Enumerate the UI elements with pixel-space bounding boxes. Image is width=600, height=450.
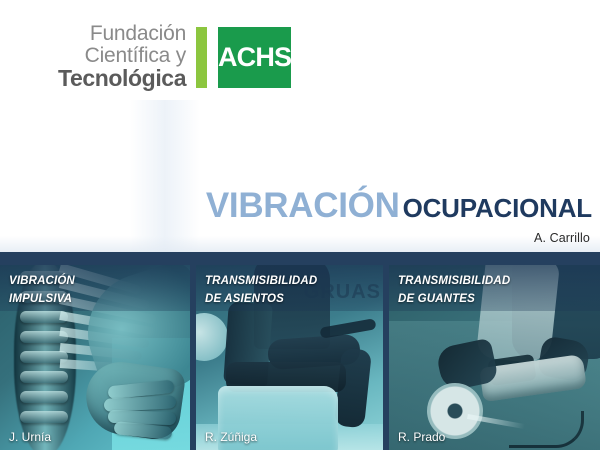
title-main: VIBRACIÓN <box>206 186 400 225</box>
logo-green-bar <box>196 27 207 88</box>
panel-1-credit: J. Urnía <box>9 430 51 444</box>
achs-badge-label: ACHS <box>218 42 291 73</box>
panel-transmisibilidad-de-guantes[interactable]: TRANSMISIBILIDAD DE GUANTES R. Prado <box>389 265 600 450</box>
organization-logo: Fundación Científica y Tecnológica ACHS <box>58 22 291 92</box>
panel-row: VIBRACIÓN IMPULSIVA J. Urnía GRUAS <box>0 265 600 450</box>
panel-2-title: TRANSMISIBILIDAD DE ASIENTOS <box>205 273 317 309</box>
background-wash-lower <box>0 236 600 252</box>
logo-wordmark: Fundación Científica y Tecnológica <box>58 23 196 91</box>
logo-line-2: Científica y <box>58 45 186 67</box>
background-wash <box>130 100 200 252</box>
panel-3-title: TRANSMISIBILIDAD DE GUANTES <box>398 273 510 309</box>
panel-transmisibilidad-de-asientos[interactable]: GRUAS TRANSMISIBILIDAD DE ASIENTOS R. Zú… <box>196 265 383 450</box>
panel-strip: VIBRACIÓN IMPULSIVA J. Urnía GRUAS <box>0 252 600 450</box>
achs-badge: ACHS <box>218 27 291 88</box>
logo-line-1: Fundación <box>58 23 186 45</box>
logo-line-3: Tecnológica <box>58 67 186 91</box>
panel-2-credit: R. Zúñiga <box>205 430 257 444</box>
panel-vibracion-impulsiva[interactable]: VIBRACIÓN IMPULSIVA J. Urnía <box>0 265 190 450</box>
author-name: A. Carrillo <box>534 231 590 245</box>
page-title: VIBRACIÓNOCUPACIONAL <box>206 186 592 226</box>
title-sub: OCUPACIONAL <box>403 193 592 223</box>
slide: Fundación Científica y Tecnológica ACHS … <box>0 0 600 450</box>
panel-3-credit: R. Prado <box>398 430 445 444</box>
panel-1-title: VIBRACIÓN IMPULSIVA <box>9 273 75 309</box>
